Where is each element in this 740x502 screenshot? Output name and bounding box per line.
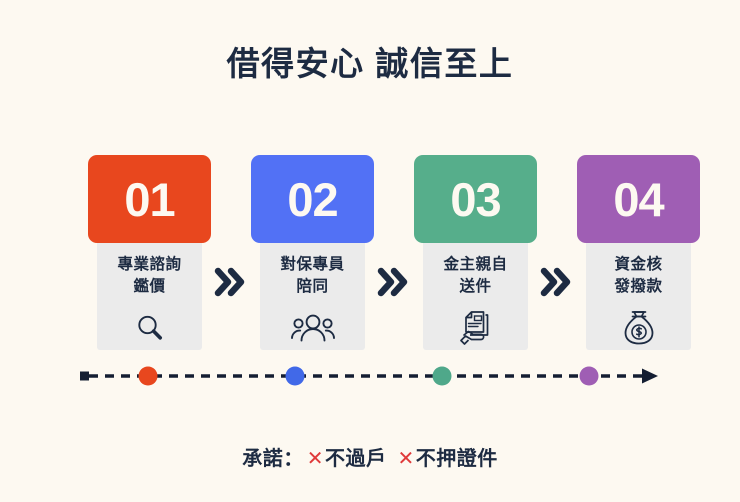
step-label-line1: 資金核 <box>577 254 700 276</box>
people-group-icon <box>251 307 374 349</box>
step-label-line1: 專業諮詢 <box>88 254 211 276</box>
step-label-line1: 金主親自 <box>414 254 537 276</box>
step-label-3: 金主親自 送件 <box>414 254 537 299</box>
step-card-3[interactable]: 03 金主親自 送件 <box>414 155 537 349</box>
timeline-dot-4[interactable] <box>580 367 599 386</box>
timeline-end-arrow <box>642 369 658 384</box>
hand-document-icon <box>414 307 537 349</box>
step-number-badge-1: 01 <box>88 155 211 243</box>
step-label-1: 專業諮詢 鑑價 <box>88 254 211 299</box>
step-number-badge-2: 02 <box>251 155 374 243</box>
money-bag-icon <box>577 307 700 349</box>
timeline-dot-3[interactable] <box>433 367 452 386</box>
step-separator-chevron-1 <box>211 267 251 297</box>
step-card-1[interactable]: 01 專業諮詢 鑑價 <box>88 155 211 349</box>
page-title: 借得安心 誠信至上 <box>0 44 740 84</box>
promise-item-1: 不過戶 <box>325 448 387 470</box>
step-label-line1: 對保專員 <box>251 254 374 276</box>
step-separator-chevron-2 <box>374 267 414 297</box>
step-label-4: 資金核 發撥款 <box>577 254 700 299</box>
step-number-badge-3: 03 <box>414 155 537 243</box>
step-label-2: 對保專員 陪同 <box>251 254 374 299</box>
step-separator-chevron-3 <box>537 267 577 297</box>
step-number-badge-4: 04 <box>577 155 700 243</box>
timeline <box>80 362 660 390</box>
promise-prefix: 承諾： <box>242 448 304 470</box>
step-label-line2: 鑑價 <box>88 276 211 298</box>
step-card-4[interactable]: 04 資金核 發撥款 <box>577 155 700 349</box>
timeline-dot-2[interactable] <box>286 367 305 386</box>
timeline-dot-1[interactable] <box>139 367 158 386</box>
promise-item-2: 不押證件 <box>416 448 498 470</box>
step-label-line2: 發撥款 <box>577 276 700 298</box>
step-card-2[interactable]: 02 對保專員 陪同 <box>251 155 374 349</box>
step-label-line2: 送件 <box>414 276 537 298</box>
steps-row: 01 專業諮詢 鑑價 02 對保專員 陪同 <box>88 155 653 350</box>
magnifier-icon <box>88 307 211 349</box>
step-label-line2: 陪同 <box>251 276 374 298</box>
timeline-start-square <box>80 372 89 381</box>
cross-mark-icon-1: ✕ <box>307 446 324 471</box>
promise-line: 承諾：✕不過戶✕不押證件 <box>0 442 740 471</box>
cross-mark-icon-2: ✕ <box>398 446 415 471</box>
